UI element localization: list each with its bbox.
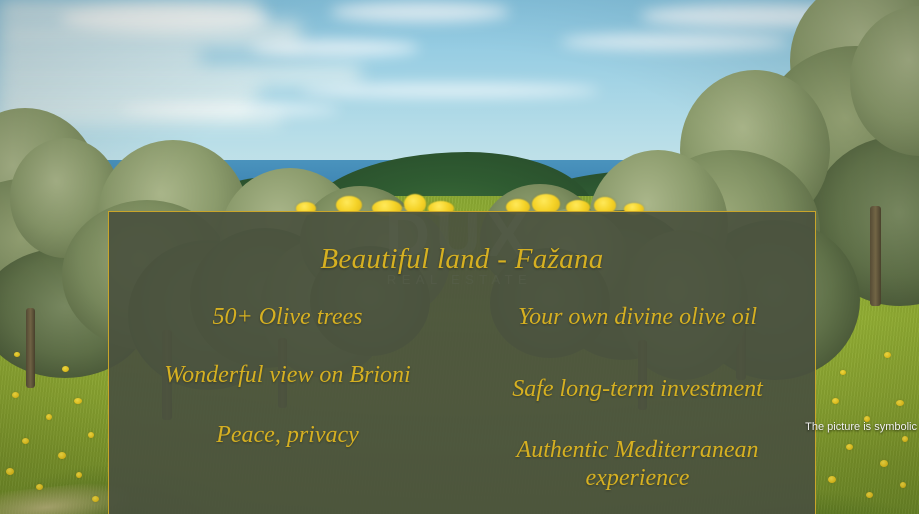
wildflower [14, 352, 20, 357]
feature-item: 50+ Olive trees [129, 303, 446, 331]
cloud [330, 2, 510, 22]
wildflower [12, 392, 19, 398]
wildflower [58, 452, 66, 459]
wildflower [840, 370, 846, 375]
features-column-right: Your own divine olive oil Safe long-term… [462, 290, 815, 492]
feature-item: Your own divine olive oil [474, 303, 801, 331]
feature-item: Peace, privacy [129, 421, 446, 449]
feature-item: Wonderful view on Brioni [129, 361, 446, 389]
wildflower [88, 432, 94, 438]
feature-item: Safe long-term investment [474, 375, 801, 403]
wildflower [76, 472, 82, 478]
wildflower [900, 482, 906, 488]
wildflower [74, 398, 82, 404]
wildflower [880, 460, 888, 467]
listing-banner: DUX REAL ESTATE Beautiful land - Fažana … [0, 0, 919, 514]
wildflower [6, 468, 14, 475]
wildflower [92, 496, 99, 502]
cloud [300, 84, 600, 97]
image-disclaimer-caption: The picture is symbolic [797, 419, 919, 435]
wildflower [902, 436, 908, 442]
wildflower [896, 400, 904, 406]
feature-item: Authentic Mediterranean experience [474, 436, 801, 493]
wildflower [22, 438, 29, 444]
cloud [560, 34, 790, 50]
wildflower [884, 352, 891, 358]
wildflower [832, 398, 839, 404]
wildflower [36, 484, 43, 490]
wildflower [846, 444, 853, 450]
cloud [250, 40, 420, 56]
info-panel: Beautiful land - Fažana 50+ Olive trees … [108, 211, 816, 514]
wildflower [46, 414, 52, 420]
features-column-left: 50+ Olive trees Wonderful view on Brioni… [109, 290, 462, 492]
cloud [0, 0, 260, 22]
wildflower [62, 366, 69, 372]
wildflower [866, 492, 873, 498]
cloud [0, 48, 200, 66]
features-grid: 50+ Olive trees Wonderful view on Brioni… [109, 290, 815, 492]
wildflower [828, 476, 836, 483]
panel-title: Beautiful land - Fažana [109, 243, 815, 276]
